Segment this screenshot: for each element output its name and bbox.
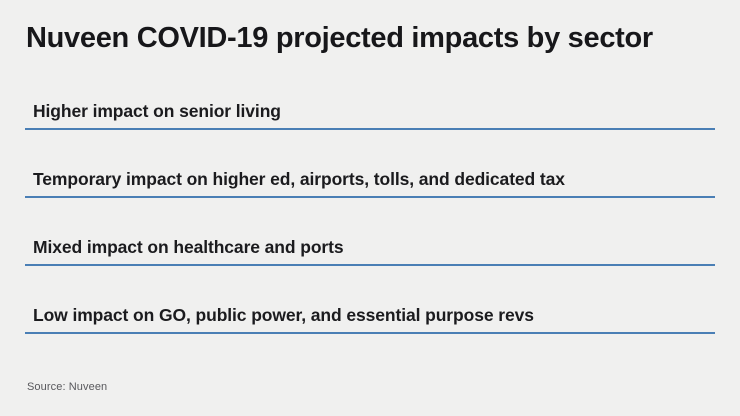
row-divider — [25, 332, 715, 334]
impact-row-label: Low impact on GO, public power, and esse… — [33, 305, 534, 326]
impact-row-label: Temporary impact on higher ed, airports,… — [33, 169, 565, 190]
source-caption: Source: Nuveen — [27, 381, 107, 393]
list-item: Mixed impact on healthcare and ports — [0, 232, 740, 300]
impact-row-label: Mixed impact on healthcare and ports — [33, 237, 344, 258]
impact-row-list: Higher impact on senior living Temporary… — [0, 96, 740, 368]
impact-row-label: Higher impact on senior living — [33, 101, 281, 122]
row-divider — [25, 196, 715, 198]
row-divider — [25, 264, 715, 266]
list-item: Low impact on GO, public power, and esse… — [0, 300, 740, 368]
list-item: Temporary impact on higher ed, airports,… — [0, 164, 740, 232]
list-item: Higher impact on senior living — [0, 96, 740, 164]
page-title: Nuveen COVID-19 projected impacts by sec… — [26, 22, 653, 55]
row-divider — [25, 128, 715, 130]
infographic-slide: Nuveen COVID-19 projected impacts by sec… — [0, 0, 740, 416]
